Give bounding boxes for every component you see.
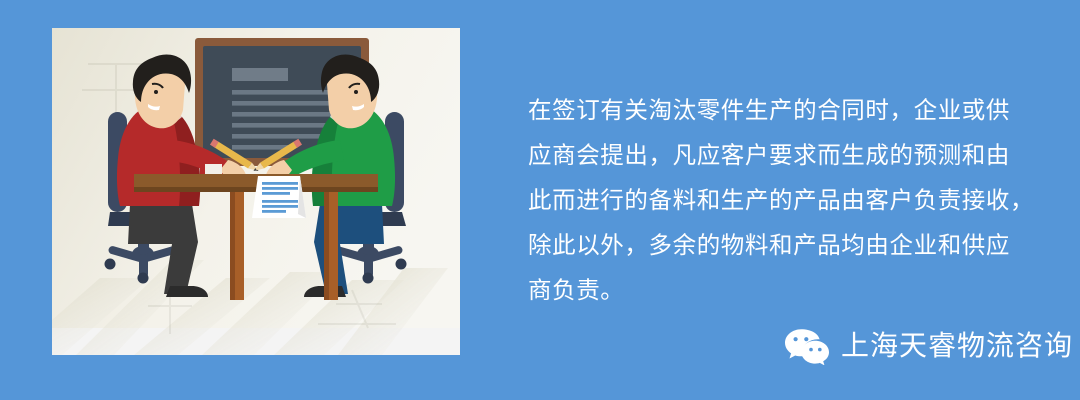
table-top: [134, 174, 378, 187]
wechat-icon: [784, 327, 830, 365]
illustration-svg: [52, 28, 460, 355]
copy-line-5: 商负责。: [528, 268, 1038, 313]
illustration-card: [52, 28, 460, 355]
brand-lockup: 上海天睿物流咨询: [784, 327, 1073, 365]
slide-root: 在签订有关淘汰零件生产的合同时，企业或供 应商会提出，凡应客户要求而生成的预测和…: [0, 0, 1080, 400]
body-copy: 在签订有关淘汰零件生产的合同时，企业或供 应商会提出，凡应客户要求而生成的预测和…: [528, 88, 1038, 313]
contract-document: [252, 176, 306, 218]
copy-line-1: 在签订有关淘汰零件生产的合同时，企业或供: [528, 88, 1038, 133]
desk-book: [200, 164, 222, 174]
copy-line-2: 应商会提出，凡应客户要求而生成的预测和由: [528, 133, 1038, 178]
left-eye: [154, 90, 158, 94]
right-eye: [354, 90, 358, 94]
blackboard-title-block: [232, 68, 288, 81]
copy-line-4: 除此以外，多余的物料和产品均由企业和供应: [528, 223, 1038, 268]
copy-line-3: 此而进行的备料和生产的产品由客户负责接收，: [528, 178, 1038, 223]
brand-name: 上海天睿物流咨询: [841, 332, 1073, 360]
